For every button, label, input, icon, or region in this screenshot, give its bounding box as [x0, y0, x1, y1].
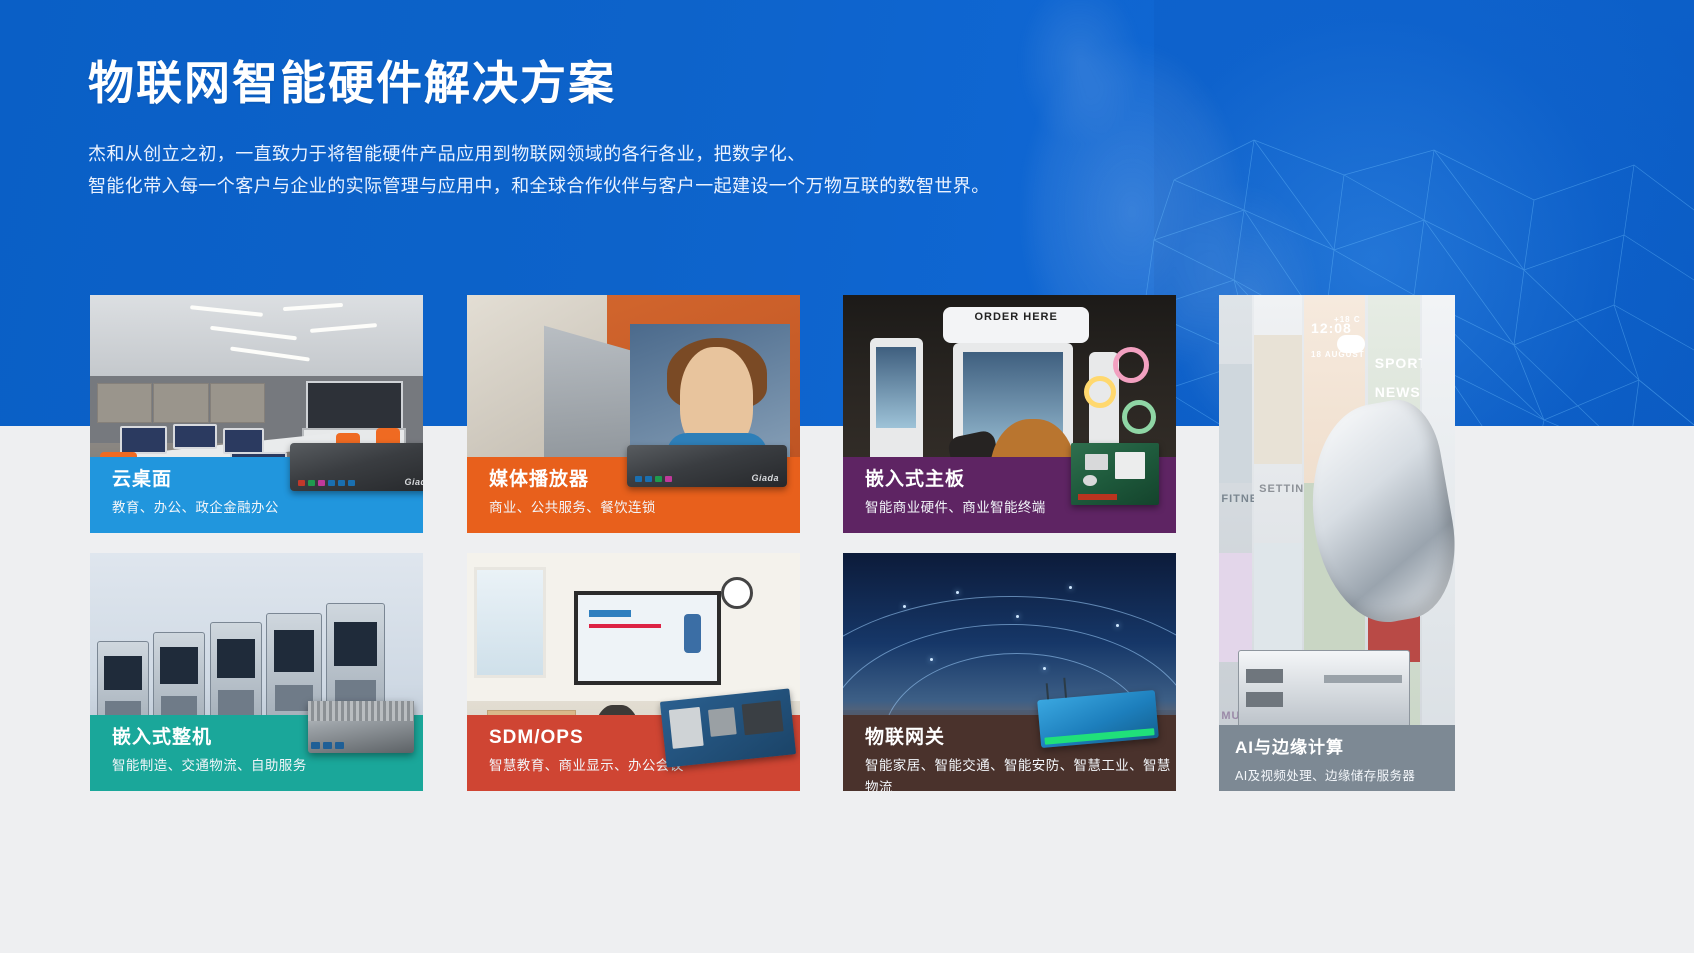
device-media-player-box: Giada	[627, 445, 787, 487]
interactive-flat-panel	[574, 591, 722, 685]
card-embedded-motherboard[interactable]: ORDER HERE 嵌入式主板 智能商业硬件、商业智能终端	[843, 295, 1176, 533]
signage-label-news: NEWS	[1375, 384, 1421, 400]
wall-clock-icon	[721, 577, 753, 609]
card-subtitle: 智能制造、交通物流、自助服务	[112, 755, 423, 777]
order-here-sign: ORDER HERE	[943, 307, 1090, 343]
device-iot-gateway	[1037, 690, 1159, 748]
card-iot-gateway[interactable]: 物联网关 智能家居、智能交通、智能安防、智慧工业、智慧物流	[843, 553, 1176, 791]
card-subtitle: 教育、办公、政企金融办公	[112, 497, 423, 519]
device-ports	[298, 480, 355, 486]
card-photo-digital-signage: FITNESS MUSIC SETTINGS MAIL 12:08 18 AUG…	[1219, 295, 1455, 791]
device-ports	[635, 476, 672, 482]
order-here-text: ORDER HERE	[943, 307, 1090, 328]
card-embedded-system[interactable]: 嵌入式整机 智能制造、交通物流、自助服务	[90, 553, 423, 791]
edge-server-device	[1238, 650, 1410, 731]
card-subtitle: AI及视频处理、边缘储存服务器	[1235, 765, 1455, 787]
device-ops-module	[660, 688, 796, 767]
card-subtitle: 商业、公共服务、餐饮连锁	[489, 497, 800, 519]
device-motherboard	[1071, 443, 1159, 505]
card-subtitle: 智能家居、智能交通、智能安防、智慧工业、智慧物流	[865, 755, 1176, 791]
device-brand-label: Giada	[404, 477, 423, 487]
device-fanless-pc	[308, 701, 414, 753]
card-band-ai-edge-computing: AI与边缘计算 AI及视频处理、边缘储存服务器	[1219, 725, 1455, 791]
card-sdm-ops[interactable]: SDM/OPS 智慧教育、商业显示、办公会议	[467, 553, 800, 791]
card-ai-edge-computing[interactable]: FITNESS MUSIC SETTINGS MAIL 12:08 18 AUG…	[1219, 295, 1455, 791]
device-brand-label: Giada	[751, 473, 779, 483]
device-mini-pc: Giada	[290, 443, 423, 491]
solution-card-grid: 云桌面 教育、办公、政企金融办公 Giada im EG	[0, 0, 1694, 953]
signage-label-sport: SPORT	[1375, 355, 1428, 371]
card-cloud-desktop[interactable]: 云桌面 教育、办公、政企金融办公 Giada	[90, 295, 423, 533]
signage-temperature: +18 C	[1334, 315, 1361, 324]
page-root: 物联网智能硬件解决方案 杰和从创立之初，一直致力于将智能硬件产品应用到物联网领域…	[0, 0, 1694, 953]
card-media-player[interactable]: im EG 媒体播放器 商业、公共服务、餐饮连锁 Giada	[467, 295, 800, 533]
device-io-ports	[311, 742, 344, 749]
card-title: AI与边缘计算	[1235, 735, 1455, 761]
